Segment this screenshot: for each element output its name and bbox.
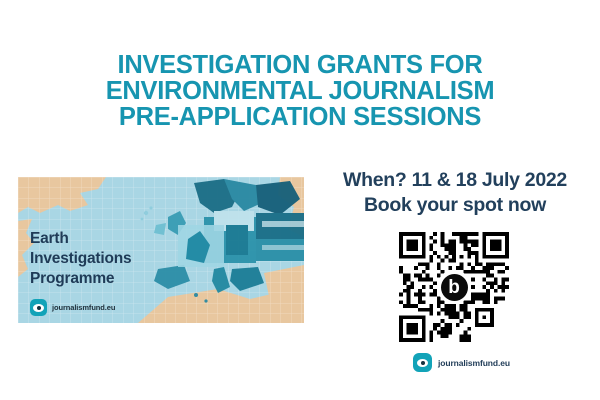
poster-canvas: INVESTIGATION GRANTS FOR ENVIRONMENTAL J… [0,0,600,400]
eye-icon [30,299,47,316]
promo-card[interactable]: Earth Investigations Programme journalis… [18,177,304,323]
bitly-letter: b [441,274,468,301]
footer-brand-logo[interactable]: journalismfund.eu [413,353,510,372]
headline-line-2: ENVIRONMENTAL JOURNALISM [0,78,600,104]
headline-line-3: PRE-APPLICATION SESSIONS [0,104,600,130]
footer-brand-label: journalismfund.eu [438,358,510,368]
bitly-logo: b [437,270,471,304]
card-title-line-1: Earth [30,229,131,249]
eye-icon [413,353,432,372]
card-brand-logo: journalismfund.eu [30,299,115,316]
card-brand-label: journalismfund.eu [52,303,115,312]
page-title: INVESTIGATION GRANTS FOR ENVIRONMENTAL J… [0,52,600,130]
card-title-line-3: Programme [30,269,131,289]
card-title: Earth Investigations Programme [30,229,131,289]
event-details: When? 11 & 18 July 2022 Book your spot n… [310,168,600,218]
qr-code[interactable]: b [399,232,509,342]
call-to-action-line: Book your spot now [310,193,600,218]
headline-line-1: INVESTIGATION GRANTS FOR [0,52,600,78]
card-title-line-2: Investigations [30,249,131,269]
event-date-line: When? 11 & 18 July 2022 [310,168,600,193]
